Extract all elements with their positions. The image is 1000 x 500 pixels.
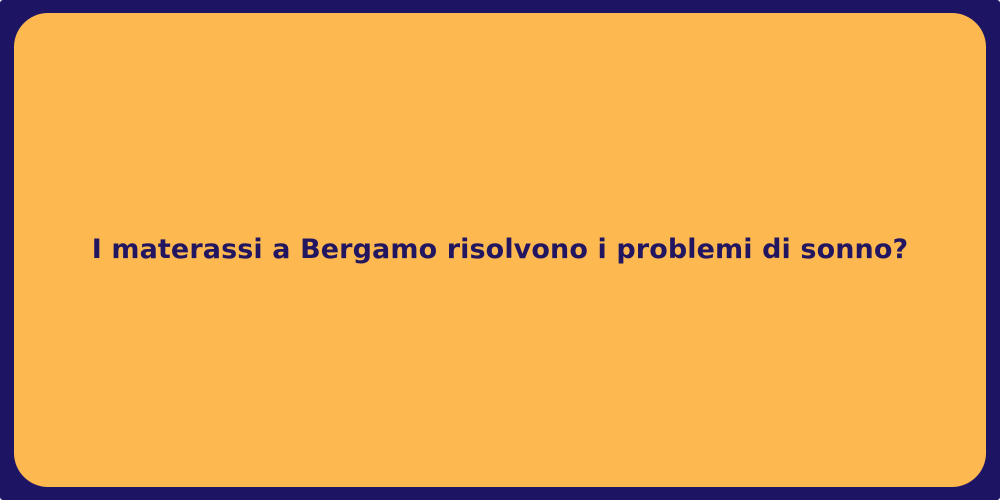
banner-headline: I materassi a Bergamo risolvono i proble… <box>52 232 949 267</box>
banner-frame: I materassi a Bergamo risolvono i proble… <box>0 0 1000 500</box>
banner-panel: I materassi a Bergamo risolvono i proble… <box>14 13 986 487</box>
